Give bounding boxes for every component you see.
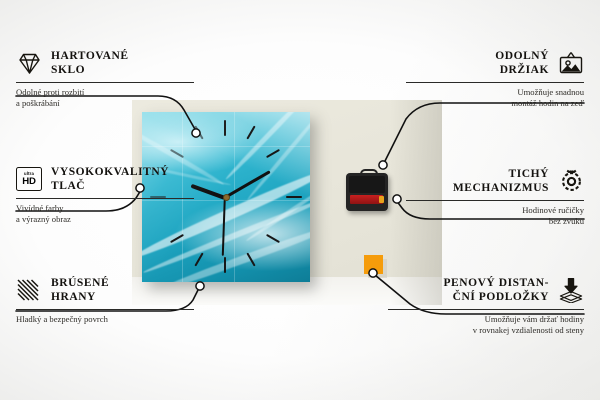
feature-title-line1: HARTOVANÉ [51, 50, 129, 64]
feature-title-line2: HRANY [51, 291, 109, 305]
mechanism-battery-terminal [379, 196, 384, 203]
feature-brusene-hrany: BRÚSENÉ HRANY Hladký a bezpečný povrch [16, 277, 194, 325]
ultra-hd-icon: ultraHD [16, 166, 42, 192]
feature-sub-line1: Vivídné farby [16, 203, 194, 214]
feature-sub-line2: a výrazný obraz [16, 214, 194, 225]
feature-tichy-mechanizmus: TICHÝ MECHANIZMUS Hodinové ručičky bez z… [406, 168, 584, 227]
feature-odolny-drziak: ODOLNÝ DRŽIAK Umožňuje snadnou montáž ho… [406, 50, 584, 109]
feature-sub-line1: Odolné proti rozbití [16, 87, 194, 98]
feature-sub-line1: Hodinové ručičky [406, 205, 584, 216]
feature-hartovane-sklo: HARTOVANÉ SKLO Odolné proti rozbití a po… [16, 50, 194, 109]
feature-title-line2: TLAČ [51, 180, 169, 194]
feature-title-line2: ČNÍ PODLOŽKY [443, 291, 549, 305]
feature-title-line1: ODOLNÝ [495, 50, 549, 64]
feature-divider [406, 82, 584, 83]
feature-title-line2: DRŽIAK [495, 64, 549, 78]
feature-penove-podlozky: PENOVÝ DISTAN- ČNÍ PODLOŽKY Umožňuje vám… [388, 277, 584, 336]
feature-sub-line2: a poškrábání [16, 98, 194, 109]
feature-title-line1: BRÚSENÉ [51, 277, 109, 291]
feature-title-line2: MECHANIZMUS [453, 182, 549, 196]
feature-sub-line2: v rovnakej vzdialenosti od steny [388, 325, 584, 336]
feature-title-line1: PENOVÝ DISTAN- [443, 277, 549, 291]
foam-spacer-pad [364, 255, 383, 274]
framed-picture-hanger-icon [558, 50, 584, 76]
hatched-edge-icon [16, 277, 42, 303]
feature-divider [16, 309, 194, 310]
diamond-icon [16, 50, 42, 76]
feature-title-line2: SKLO [51, 64, 129, 78]
feature-divider [16, 82, 194, 83]
feature-divider [406, 200, 584, 201]
infographic-canvas: HARTOVANÉ SKLO Odolné proti rozbití a po… [0, 0, 600, 400]
feature-sub-line1: Umožňuje vám držať hodiny [388, 314, 584, 325]
feature-sub-line1: Hladký a bezpečný povrch [16, 314, 194, 325]
down-arrow-layers-icon [558, 277, 584, 303]
feature-title-line1: VYSOKOKVALITNÝ [51, 166, 169, 180]
feature-sub-line1: Umožňuje snadnou [406, 87, 584, 98]
clock-mechanism [346, 169, 388, 211]
feature-divider [388, 309, 584, 310]
mechanism-housing-detail [349, 176, 385, 193]
feature-sub-line2: montáž hodin na zeď [406, 98, 584, 109]
gear-icon [558, 168, 584, 194]
feature-divider [16, 198, 194, 199]
feature-vysokokvalitny-tlac: ultraHD VYSOKOKVALITNÝ TLAČ Vivídné farb… [16, 166, 194, 225]
feature-sub-line2: bez zvuku [406, 216, 584, 227]
feature-title-line1: TICHÝ [453, 168, 549, 182]
